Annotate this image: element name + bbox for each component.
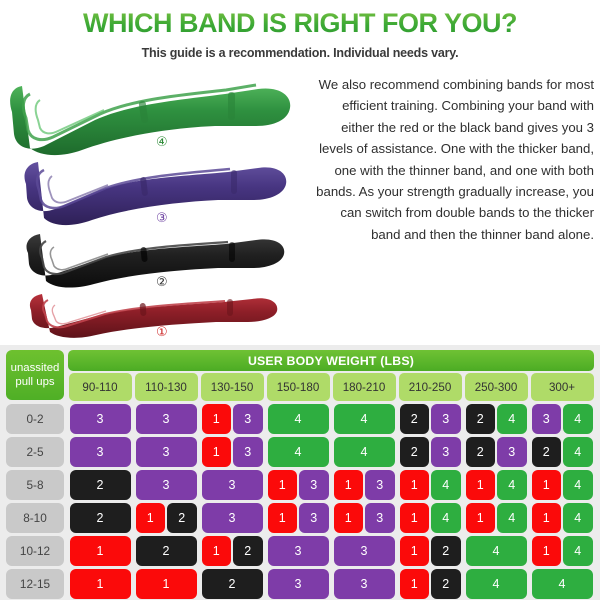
cell-group: 4: [333, 404, 396, 434]
band-cell: 4: [334, 404, 395, 434]
cell-group: 2: [69, 503, 132, 533]
band-cell: 2: [233, 536, 263, 566]
band-number-red: ①: [156, 326, 168, 339]
band-cell: 2: [70, 503, 131, 533]
table-row: 0-2331344232434: [5, 404, 595, 434]
band-cell: 4: [466, 569, 527, 599]
cell-group: 23: [465, 437, 528, 467]
band-cell: 2: [431, 569, 461, 599]
row-cells: 21231313141414: [67, 503, 595, 533]
weight-column-header: 90-110: [69, 373, 132, 401]
weight-column-header: 110-130: [135, 373, 198, 401]
band-cell: 3: [202, 503, 263, 533]
cell-group: 14: [531, 536, 594, 566]
band-cell: 4: [563, 503, 593, 533]
band-cell: 3: [268, 569, 329, 599]
band-cell: 4: [497, 503, 527, 533]
cell-group: 1: [135, 569, 198, 599]
cell-group: 23: [399, 404, 462, 434]
band-cell: 2: [70, 470, 131, 500]
band-cell: 3: [431, 437, 461, 467]
band-cell: 1: [532, 503, 562, 533]
band-cell: 3: [365, 503, 395, 533]
band-cell: 1: [400, 536, 430, 566]
purple-band-icon: [0, 150, 305, 238]
band-item-red: ①: [0, 286, 305, 346]
cell-group: 13: [201, 437, 264, 467]
cell-group: 23: [399, 437, 462, 467]
row-label: 8-10: [6, 503, 64, 533]
page-title: WHICH BAND IS RIGHT FOR YOU?: [0, 8, 600, 39]
cell-group: 24: [531, 437, 594, 467]
weight-column-header: 180-210: [333, 373, 396, 401]
cell-group: 4: [267, 404, 330, 434]
band-cell: 1: [202, 404, 232, 434]
cell-group: 4: [465, 536, 528, 566]
band-cell: 3: [334, 536, 395, 566]
cell-group: 2: [69, 470, 132, 500]
band-selection-table: unassited pull ups USER BODY WEIGHT (LBS…: [0, 345, 600, 600]
band-cell: 4: [268, 404, 329, 434]
band-cell: 3: [365, 470, 395, 500]
cell-group: 4: [267, 437, 330, 467]
weight-column-header: 150-180: [267, 373, 330, 401]
band-cell: 3: [268, 536, 329, 566]
cell-group: 3: [333, 569, 396, 599]
band-cell: 3: [431, 404, 461, 434]
cell-group: 13: [201, 404, 264, 434]
cell-group: 3: [201, 470, 264, 500]
cell-group: 14: [399, 503, 462, 533]
band-number-green: ④: [156, 136, 168, 149]
cell-group: 3: [267, 536, 330, 566]
band-cell: 3: [202, 470, 263, 500]
band-cell: 2: [431, 536, 461, 566]
row-label: 10-12: [6, 536, 64, 566]
band-item-green: ④: [0, 64, 305, 164]
band-cell: 3: [497, 437, 527, 467]
table-row: 2-5331344232324: [5, 437, 595, 467]
row-cells: 12123312414: [67, 536, 595, 566]
cell-group: 34: [531, 404, 594, 434]
cell-group: 24: [465, 404, 528, 434]
band-cell: 3: [70, 437, 131, 467]
table-row: 12-15112331244: [5, 569, 595, 599]
band-cell: 4: [431, 470, 461, 500]
band-cell: 3: [136, 437, 197, 467]
band-cell: 1: [532, 536, 562, 566]
band-number-purple: ③: [156, 212, 168, 225]
cell-group: 4: [465, 569, 528, 599]
band-cell: 4: [563, 404, 593, 434]
cell-group: 3: [135, 437, 198, 467]
cell-group: 2: [201, 569, 264, 599]
cell-group: 3: [201, 503, 264, 533]
band-cell: 1: [268, 470, 298, 500]
weight-column-header: 130-150: [201, 373, 264, 401]
band-cell: 4: [334, 437, 395, 467]
cell-group: 3: [69, 437, 132, 467]
row-cells: 331344232324: [67, 437, 595, 467]
band-cell: 1: [466, 470, 496, 500]
row-label: 0-2: [6, 404, 64, 434]
cell-group: 14: [531, 503, 594, 533]
cell-group: 13: [267, 470, 330, 500]
band-cell: 1: [400, 569, 430, 599]
green-band-icon: [0, 64, 305, 164]
band-cell: 2: [466, 404, 496, 434]
bands-and-text-section: ④ ③: [0, 64, 600, 336]
cell-group: 2: [135, 536, 198, 566]
row-label: 5-8: [6, 470, 64, 500]
band-cell: 3: [136, 470, 197, 500]
band-cell: 4: [431, 503, 461, 533]
cell-group: 13: [333, 503, 396, 533]
band-item-purple: ③: [0, 150, 305, 238]
band-cell: 1: [268, 503, 298, 533]
band-cell: 2: [136, 536, 197, 566]
band-cell: 4: [497, 470, 527, 500]
band-cell: 4: [532, 569, 593, 599]
page-header: WHICH BAND IS RIGHT FOR YOU? This guide …: [0, 0, 600, 60]
band-cell: 1: [466, 503, 496, 533]
cell-group: 14: [399, 470, 462, 500]
cell-group: 13: [267, 503, 330, 533]
band-cell: 3: [299, 470, 329, 500]
column-headers: USER BODY WEIGHT (LBS) 90-110110-130130-…: [67, 349, 595, 401]
band-cell: 4: [497, 404, 527, 434]
corner-header-line1: unassited: [11, 361, 60, 375]
row-cells: 331344232434: [67, 404, 595, 434]
cell-group: 12: [399, 536, 462, 566]
band-cell: 4: [563, 470, 593, 500]
cell-group: 3: [69, 404, 132, 434]
band-cell: 3: [334, 569, 395, 599]
band-cell: 1: [400, 470, 430, 500]
cell-group: 4: [333, 437, 396, 467]
table-row: 10-1212123312414: [5, 536, 595, 566]
band-cell: 1: [70, 569, 131, 599]
band-cell: 1: [202, 536, 232, 566]
recommendation-paragraph: We also recommend combining bands for mo…: [312, 74, 594, 245]
band-cell: 3: [70, 404, 131, 434]
band-cell: 2: [466, 437, 496, 467]
band-cell: 1: [70, 536, 131, 566]
cell-group: 3: [267, 569, 330, 599]
cell-group: 14: [465, 503, 528, 533]
band-cell: 1: [136, 503, 166, 533]
red-band-icon: [0, 286, 305, 346]
corner-header-line2: pull ups: [15, 375, 54, 389]
cell-group: 4: [531, 569, 594, 599]
row-cells: 2331313141414: [67, 470, 595, 500]
cell-group: 14: [531, 470, 594, 500]
table-body: 0-23313442324342-53313442323245-82331313…: [5, 404, 595, 599]
band-cell: 3: [532, 404, 562, 434]
cell-group: 1: [69, 569, 132, 599]
band-cell: 2: [532, 437, 562, 467]
weight-column-header: 210-250: [399, 373, 462, 401]
band-cell: 2: [167, 503, 197, 533]
band-cell: 4: [268, 437, 329, 467]
table-header: unassited pull ups USER BODY WEIGHT (LBS…: [5, 349, 595, 401]
band-cell: 3: [299, 503, 329, 533]
band-cell: 1: [334, 470, 364, 500]
cell-group: 14: [465, 470, 528, 500]
cell-group: 13: [333, 470, 396, 500]
band-cell: 3: [136, 404, 197, 434]
cell-group: 3: [135, 470, 198, 500]
band-cell: 2: [400, 437, 430, 467]
weight-column-headers: 90-110110-130130-150150-180180-210210-25…: [67, 373, 595, 401]
weight-column-header: 250-300: [465, 373, 528, 401]
table-row: 5-82331313141414: [5, 470, 595, 500]
band-cell: 1: [334, 503, 364, 533]
table-row: 8-1021231313141414: [5, 503, 595, 533]
cell-group: 12: [399, 569, 462, 599]
cell-group: 1: [69, 536, 132, 566]
band-cell: 3: [233, 404, 263, 434]
row-cells: 112331244: [67, 569, 595, 599]
band-cell: 1: [202, 437, 232, 467]
cell-group: 12: [201, 536, 264, 566]
cell-group: 12: [135, 503, 198, 533]
row-label: 12-15: [6, 569, 64, 599]
band-cell: 3: [233, 437, 263, 467]
cell-group: 3: [333, 536, 396, 566]
band-cell: 2: [400, 404, 430, 434]
row-label: 2-5: [6, 437, 64, 467]
band-illustrations: ④ ③: [0, 64, 305, 336]
band-cell: 4: [466, 536, 527, 566]
group-header-label: USER BODY WEIGHT (LBS): [68, 350, 594, 371]
band-cell: 1: [532, 470, 562, 500]
page-subtitle: This guide is a recommendation. Individu…: [0, 46, 600, 60]
corner-header-cell: unassited pull ups: [6, 350, 64, 400]
band-cell: 4: [563, 437, 593, 467]
cell-group: 3: [135, 404, 198, 434]
band-cell: 1: [136, 569, 197, 599]
band-cell: 4: [563, 536, 593, 566]
band-cell: 2: [202, 569, 263, 599]
weight-column-header: 300+: [531, 373, 594, 401]
band-cell: 1: [400, 503, 430, 533]
